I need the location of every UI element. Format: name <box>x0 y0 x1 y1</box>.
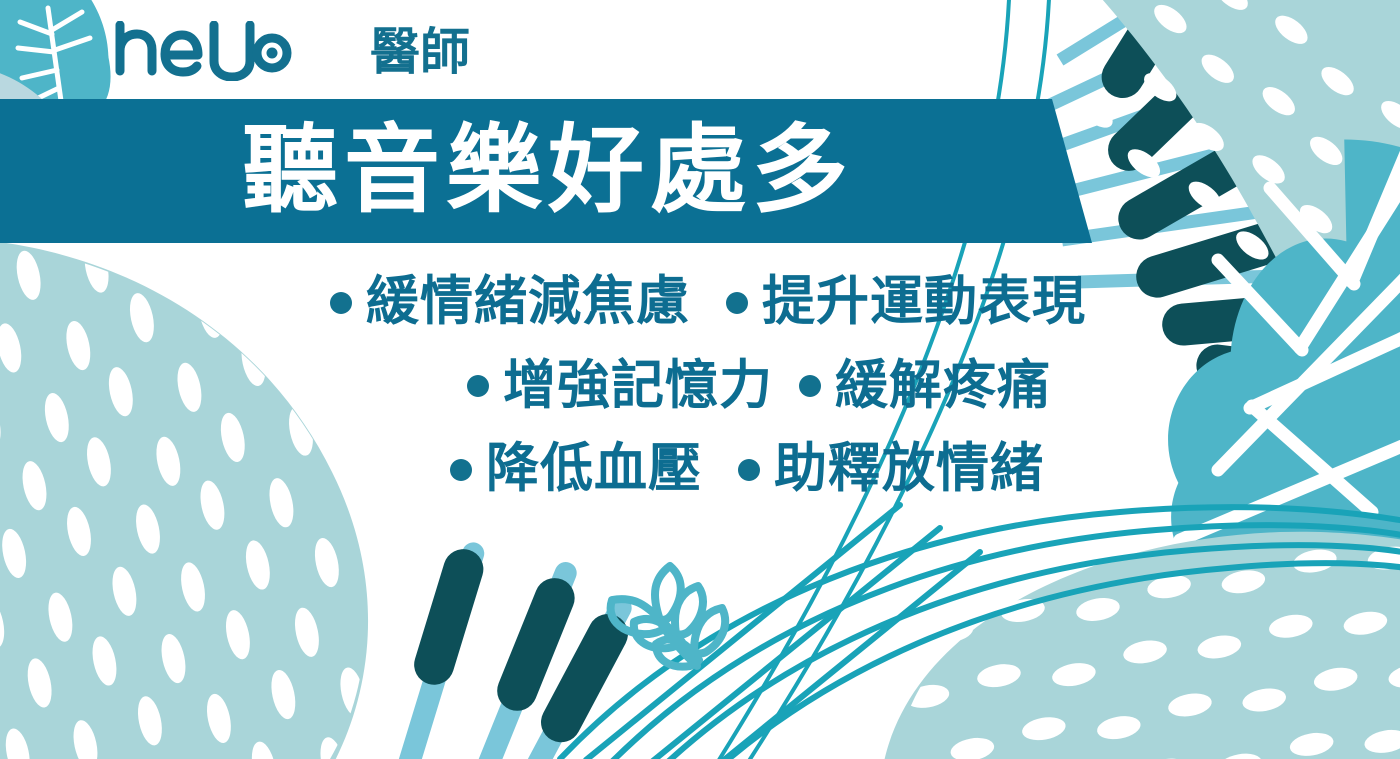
benefit-item: 降低血壓 <box>450 442 702 498</box>
stethoscope-diaphragm-icon <box>267 48 278 59</box>
bullet-icon <box>450 459 472 481</box>
benefit-item: 提升運動表現 <box>726 275 1086 331</box>
bullet-icon <box>330 292 352 314</box>
bullet-icon <box>726 292 748 314</box>
benefit-label: 提升運動表現 <box>762 275 1086 331</box>
bullet-icon <box>467 375 489 397</box>
poster-canvas: 醫師 聽音樂好處多 緩情緒減焦慮 提升運動表現 增強記憶力 <box>0 0 1400 759</box>
hello-stethoscope-logo-icon <box>112 21 364 81</box>
benefits-row-1: 緩情緒減焦慮 提升運動表現 <box>330 275 1150 331</box>
brand-logo-cjk: 醫師 <box>370 27 470 77</box>
benefit-label: 緩情緒減焦慮 <box>366 275 690 331</box>
benefit-item: 增強記憶力 <box>467 359 773 415</box>
bullet-icon <box>738 459 760 481</box>
piano-keys-bottom <box>396 540 636 759</box>
benefit-label: 緩解疼痛 <box>835 359 1051 415</box>
benefit-label: 助釋放情緒 <box>774 442 1044 498</box>
title-banner: 聽音樂好處多 <box>0 99 1400 243</box>
page-title: 聽音樂好處多 <box>0 99 1090 243</box>
bullet-icon <box>799 375 821 397</box>
benefits-row-3: 降低血壓 助釋放情緒 <box>330 442 1150 498</box>
benefit-label: 降低血壓 <box>486 442 702 498</box>
benefit-label: 增強記憶力 <box>503 359 773 415</box>
benefit-item: 緩解疼痛 <box>799 359 1051 415</box>
benefit-item: 助釋放情緒 <box>738 442 1044 498</box>
benefit-item: 緩情緒減焦慮 <box>330 275 690 331</box>
brand-logo[interactable]: 醫師 <box>112 20 470 82</box>
benefits-list: 緩情緒減焦慮 提升運動表現 增強記憶力 緩解疼痛 降低血壓 <box>330 275 1150 498</box>
benefits-row-2: 增強記憶力 緩解疼痛 <box>330 359 1150 415</box>
